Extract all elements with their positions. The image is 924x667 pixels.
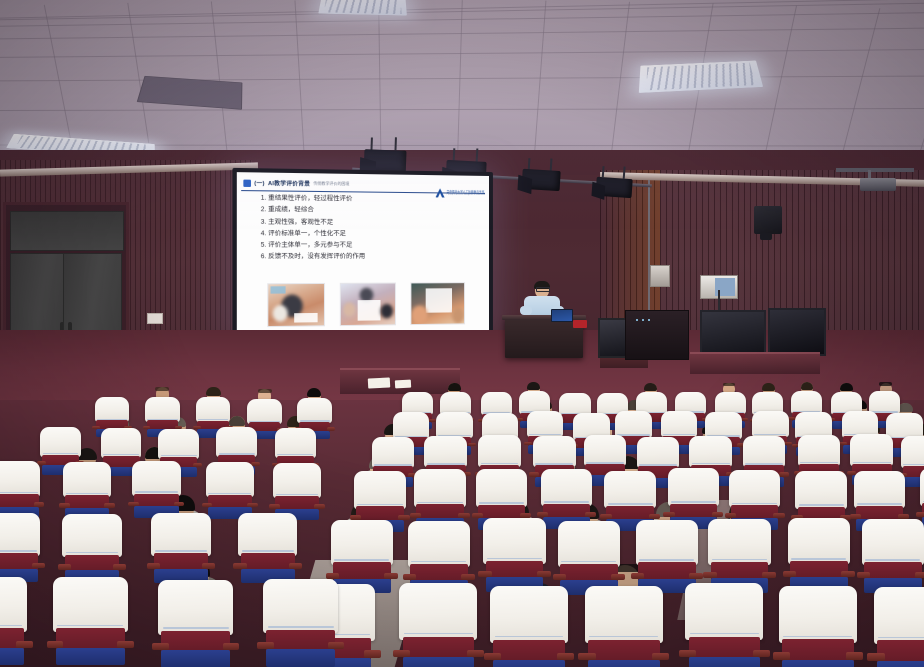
seat-armrest [679,650,696,657]
seat-armrest [202,563,215,569]
seat-armrest [537,512,548,517]
seat-armrest [725,513,736,518]
seat-armrest [652,653,669,660]
seat-cover [483,518,545,564]
seat-armrest [34,502,45,507]
seat-armrest [193,463,202,467]
seat-cover [53,577,128,632]
seat-cushion [588,660,660,667]
seat-armrest [269,504,280,509]
seat-piping [161,455,197,456]
presenter-glasses-icon [536,287,550,292]
seat-armrest [461,574,475,580]
seat-cover [263,579,338,634]
seat-armrest [113,564,126,570]
auditorium-seat [0,577,27,665]
seat-armrest [472,513,483,518]
seat-piping [903,464,924,465]
seat-piping [334,559,389,560]
seat-armrest [47,641,63,648]
seat-piping [208,493,251,494]
seat-armrest [16,641,32,648]
slide-bullet: 2. 重成绩，轻综合 [261,207,483,215]
seat-piping [417,502,462,503]
seat-piping [481,463,519,464]
seat-armrest [92,426,100,429]
auditorium-seat [206,462,254,519]
seat-piping [799,504,844,505]
seat-cover [685,583,763,640]
ceiling-projector [860,178,896,191]
auditorium-seat [874,587,924,667]
seat-piping [712,559,767,560]
slide-surface: (一) AI教学评价背景 传统教学评价的困境 华中师范大学人工智能教育学部 Fa… [237,172,489,335]
seat-armrest [898,514,909,519]
seat-cushion [161,650,230,667]
seat-armrest [152,643,168,650]
seat-armrest [147,563,160,569]
seat-cushion [689,657,761,667]
seat-cover [874,587,924,644]
seat-piping [57,625,123,626]
seat-armrest [403,574,417,580]
seat-armrest [233,563,246,569]
audience-hair [644,383,657,391]
paper-document [395,380,411,389]
seat-piping [135,491,178,492]
seat-cushion [877,661,924,667]
seat-piping [0,550,37,551]
auditorium-seat [263,579,338,667]
av-monitor-right [768,308,826,356]
auditorium-seat [273,463,321,520]
auditorium-seat [685,583,763,667]
seat-piping [268,626,334,627]
audience-hair [206,387,220,396]
seat-armrest [753,650,770,657]
seat-armrest [468,443,476,446]
seat-armrest [529,472,538,476]
seat-cover [408,521,470,567]
door-transom-window [10,211,124,251]
auditorium-seat [0,513,40,583]
projector-ceiling-plate [836,168,914,172]
podium [505,318,583,358]
seat-piping [853,462,891,463]
seat-piping [791,558,846,559]
seat-piping [544,501,589,502]
seat-armrest [410,513,421,518]
seat-cover [158,580,233,635]
seat-armrest [59,503,70,508]
seat-armrest [247,503,258,508]
seat-cushion [56,648,125,666]
auditorium-seat [779,586,857,667]
seat-armrest [649,514,660,519]
seat-cover [62,514,121,557]
logo-text-en: Faculty of Artificial Intelligence in Ed… [447,193,485,196]
presenter-arm-left [520,306,532,315]
slide-subtitle: 传统教学评价的困境 [313,181,349,187]
seat-armrest [841,571,855,577]
seat-cover [729,470,780,508]
seat-armrest [104,503,115,508]
seat-cover [206,462,254,497]
seat-armrest [600,514,611,519]
seat-armrest [32,563,45,569]
seat-cushion [493,660,565,667]
laptop[interactable] [551,309,573,322]
seat-cover [490,586,568,643]
seat-armrest [478,571,492,577]
classroom-photo-3 [410,282,465,325]
seat-armrest [916,512,924,517]
seat-armrest [762,572,776,578]
seat-armrest [779,472,788,476]
seat-cover [414,469,465,507]
lecture-hall-photo: (一) AI教学评价背景 传统教学评价的困境 华中师范大学人工智能教育学部 Fa… [0,0,924,667]
paper-document [368,377,390,388]
stage-spotlight [517,165,567,200]
slide-bullet: 3. 主观性强，客观性不足 [261,219,483,227]
seat-armrest [467,650,484,657]
auditorium-seat [158,580,233,667]
seat-armrest [174,502,185,507]
seat-armrest [631,573,645,579]
seat-armrest [689,573,703,579]
seat-armrest [578,653,595,660]
university-logo-icon [435,188,444,197]
seat-armrest [384,573,398,579]
seat-armrest [712,512,723,517]
projection-screen: (一) AI教学评价背景 传统教学评价的困境 华中师范大学人工智能教育学部 Fa… [237,172,489,335]
seat-piping [561,561,616,562]
seat-armrest [398,515,409,520]
auditorium-seat [331,520,393,594]
red-object-on-desk [573,320,587,328]
seat-piping [732,503,777,504]
audience-hair [840,383,853,391]
front-desk [690,352,820,374]
audience-hair [801,382,814,390]
seat-armrest [524,442,532,445]
auditorium-seat [558,521,620,595]
seat-armrest [458,513,469,518]
seat-armrest [783,571,797,577]
auditorium-seat [63,462,111,519]
seat-cover [779,586,857,643]
seat-armrest [327,427,335,430]
classroom-photo-1 [267,283,325,327]
seat-cushion [782,660,854,667]
slide-section-label: (一) [254,179,264,188]
seat-armrest [585,512,596,517]
auditorium-seat [238,513,297,583]
seat-armrest [703,572,717,578]
audience-hair [155,387,169,391]
audience-hair [762,383,775,391]
seat-armrest [867,653,884,660]
seat-piping [865,559,920,560]
seat-armrest [202,503,213,508]
av-equipment-rack [625,310,689,360]
seat-piping [878,637,924,638]
slide-photo-row [267,282,465,327]
seat-armrest [537,571,551,577]
seat-armrest [58,564,71,570]
seat-armrest [557,653,574,660]
auditorium-seat [585,586,663,667]
seat-armrest [289,563,302,569]
auditorium-seat [788,518,850,592]
support-pole [648,180,650,310]
seat-piping [0,625,22,626]
seat-armrest [773,513,784,518]
classroom-photo-2 [340,283,396,327]
auditorium-seat [483,518,545,592]
stage-spotlight [591,172,639,205]
seat-cover [0,577,27,632]
auditorium-seat [708,519,770,593]
seat-cushion [403,657,475,667]
seat-cover [708,519,770,565]
seat-armrest [773,652,790,659]
auditorium-seat [151,513,210,583]
seat-piping [671,501,716,502]
seat-armrest [143,426,151,429]
seat-armrest [857,572,871,578]
seat-piping [857,503,902,504]
seat-armrest [257,642,273,649]
auditorium-seat [862,519,924,593]
audience-hair [258,389,272,393]
seat-armrest [742,418,749,421]
seat-armrest [328,642,344,649]
seat-armrest [611,574,625,580]
slide-title: AI教学评价背景 [268,179,310,188]
seat-piping [66,493,109,494]
seat-armrest [846,652,863,659]
seat-cover [399,583,477,640]
auditorium-seat [62,514,121,584]
seat-cushion [0,648,24,666]
seat-piping [242,550,294,551]
light-switch[interactable] [147,313,163,324]
wall-control-box [650,265,670,287]
seat-piping [608,503,653,504]
auditorium-seat [132,461,180,518]
audience-hair [879,382,892,385]
wall-speaker [754,206,782,234]
auditorium-seat [53,577,128,665]
slide-bullet: 5. 评价主体单一，多元参与不足 [261,243,483,250]
auditorium-seat [490,586,568,667]
audience-hair [723,383,736,386]
seat-armrest [484,653,501,660]
slide-bullet: 6. 反馈不及时，没有发挥评价的作用 [261,254,483,260]
seat-cushion [266,649,335,667]
ceiling-light-panel [318,0,407,15]
seat-piping [783,636,852,637]
audience-hair [307,388,321,397]
seat-armrest [850,514,861,519]
seat-armrest [393,650,410,657]
seat-cover [354,471,405,509]
slide-bullet-list: 1. 重结果性评价，轻过程性评价 2. 重成绩，轻综合 3. 主观性强，客观性不… [261,195,483,266]
seat-armrest [117,641,133,648]
seat-piping [639,559,694,560]
seat-piping [411,561,466,562]
slide-bullet-square-icon [243,179,251,186]
slide-bullet: 4. 评价标准单一，个性化不足 [261,231,483,238]
seat-armrest [429,419,436,422]
seat-cover [558,521,620,567]
audience-hair [527,382,540,390]
slide-bullet: 1. 重结果性评价，轻过程性评价 [261,195,483,204]
audience-hair [448,383,461,391]
auditorium-seat [0,461,40,518]
seat-piping [479,502,524,503]
auditorium-seat [636,520,698,594]
seat-armrest [364,650,381,657]
auditorium-seat [399,583,477,667]
seat-armrest [663,512,674,517]
seat-armrest [314,504,325,509]
seat-piping [357,504,402,505]
seat-armrest [553,574,567,580]
seat-cover [585,586,663,643]
seat-piping [487,558,542,559]
seat-piping [163,627,229,628]
seat-armrest [223,643,239,650]
seat-piping [155,550,207,551]
seat-armrest [915,572,924,578]
seat-armrest [128,502,139,507]
